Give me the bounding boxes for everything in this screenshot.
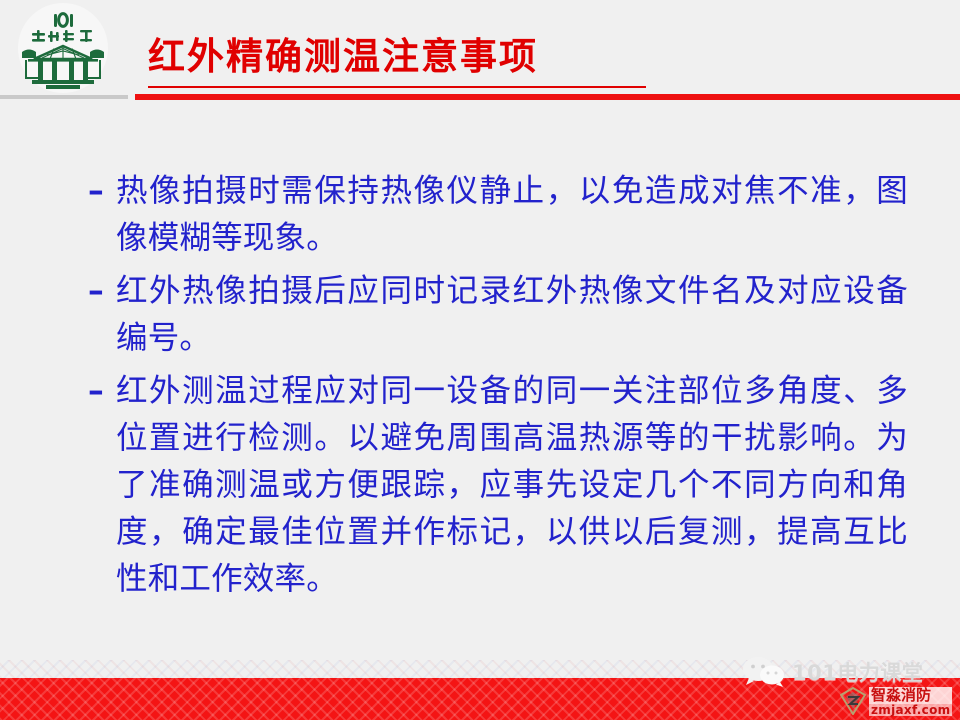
bullet-marker: – bbox=[88, 368, 110, 415]
header-divider-grey bbox=[0, 95, 128, 99]
slide: 红外精确测温注意事项 – 热像拍摄时需保持热像仪静止，以免造成对焦不准，图像模糊… bbox=[0, 0, 960, 720]
watermark-shield-icon bbox=[840, 687, 866, 715]
title-underline bbox=[148, 86, 646, 88]
bullet-item: – 红外热像拍摄后应同时记录红外热像文件名及对应设备编号。 bbox=[86, 268, 908, 362]
wechat-account-label: 101电力课堂 bbox=[792, 657, 923, 687]
bullet-text: 热像拍摄时需保持热像仪静止，以免造成对焦不准，图像模糊等现象。 bbox=[116, 173, 908, 256]
bullet-text: 红外测温过程应对同一设备的同一关注部位多角度、多位置进行检测。以避免周围高温热源… bbox=[116, 373, 908, 597]
slide-header: 红外精确测温注意事项 bbox=[0, 0, 960, 100]
watermark-url: zmjaxf.com bbox=[869, 704, 952, 716]
slide-body: – 热像拍摄时需保持热像仪静止，以免造成对焦不准，图像模糊等现象。 – 红外热像… bbox=[86, 168, 908, 609]
header-divider-red bbox=[135, 94, 960, 100]
bullet-marker: – bbox=[88, 268, 110, 315]
logo-pavilion-icon bbox=[14, 2, 112, 94]
page-title: 红外精确测温注意事项 bbox=[148, 38, 538, 75]
bullet-text: 红外热像拍摄后应同时记录红外热像文件名及对应设备编号。 bbox=[116, 273, 908, 356]
watermark-texts: 智淼消防 zmjaxf.com bbox=[869, 687, 952, 716]
wechat-icon bbox=[742, 656, 786, 688]
watermark-brand: 智淼消防 bbox=[869, 687, 952, 704]
site-watermark: 智淼消防 zmjaxf.com bbox=[840, 684, 960, 718]
bullet-item: – 热像拍摄时需保持热像仪静止，以免造成对焦不准，图像模糊等现象。 bbox=[86, 168, 908, 262]
bullet-marker: – bbox=[88, 168, 110, 215]
bullet-item: – 红外测温过程应对同一设备的同一关注部位多角度、多位置进行检测。以避免周围高温… bbox=[86, 368, 908, 603]
org-logo bbox=[14, 2, 112, 94]
